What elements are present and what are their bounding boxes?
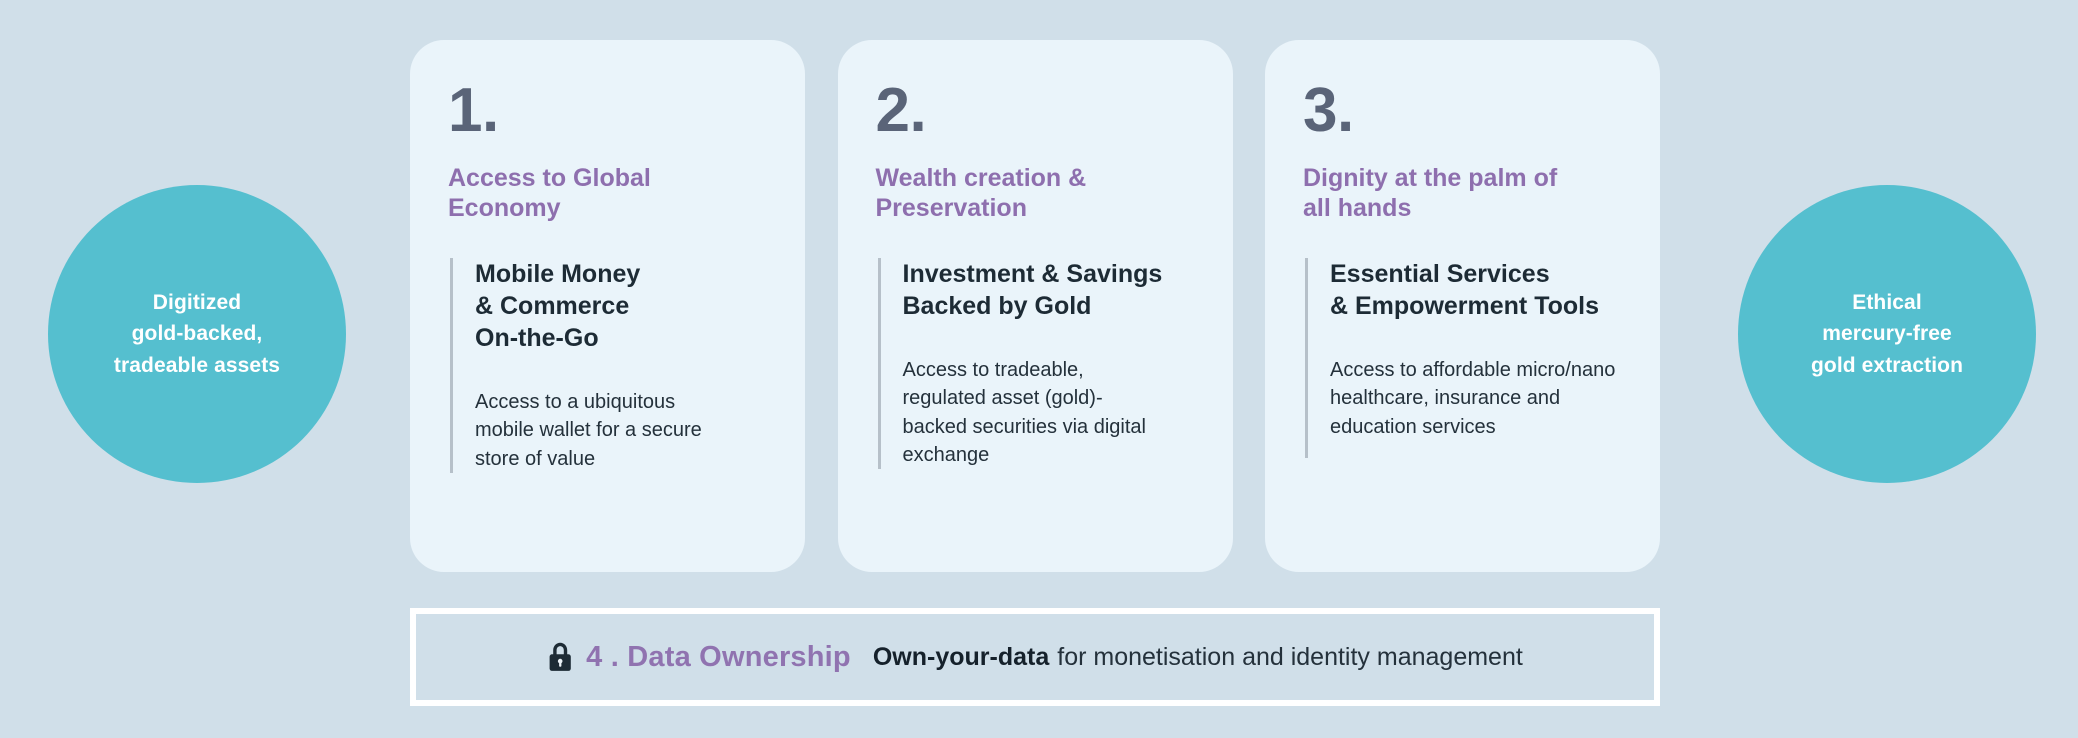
- card-body: Investment & Savings Backed by Gold Acce…: [878, 258, 1193, 470]
- own-your-data-rest-text: for monetisation and identity management: [1057, 643, 1523, 672]
- left-circle-badge: Digitized gold-backed, tradeable assets: [48, 185, 346, 483]
- card-description: Access to affordable micro/nano healthca…: [1330, 356, 1620, 441]
- data-ownership-bar[interactable]: 4 . Data Ownership Own-your-data for mon…: [410, 608, 1660, 706]
- card-number: 1.: [448, 82, 765, 141]
- card-heading: Wealth creation & Preservation: [876, 163, 1193, 224]
- card-number: 2.: [876, 82, 1193, 141]
- right-circle-label: Ethical mercury-free gold extraction: [1811, 287, 1963, 380]
- card-description: Access to a ubiquitous mobile wallet for…: [475, 388, 765, 473]
- card-body: Mobile Money & Commerce On-the-Go Access…: [450, 258, 765, 473]
- card-subtitle: Essential Services & Empowerment Tools: [1330, 258, 1620, 322]
- card-heading: Dignity at the palm of all hands: [1303, 163, 1620, 224]
- card-dignity-at-the-palm-of-all-hands[interactable]: 3. Dignity at the palm of all hands Esse…: [1265, 40, 1660, 572]
- card-number: 3.: [1303, 82, 1620, 141]
- lock-icon: [547, 642, 573, 672]
- card-subtitle: Investment & Savings Backed by Gold: [903, 258, 1193, 322]
- card-row: 1. Access to Global Economy Mobile Money…: [410, 40, 1660, 572]
- data-ownership-bar-content: 4 . Data Ownership Own-your-data for mon…: [547, 641, 1523, 674]
- infographic-stage: Digitized gold-backed, tradeable assets …: [0, 0, 2078, 738]
- left-circle-label: Digitized gold-backed, tradeable assets: [114, 287, 280, 380]
- own-your-data-strong-text: Own-your-data: [873, 643, 1049, 672]
- card-access-to-global-economy[interactable]: 1. Access to Global Economy Mobile Money…: [410, 40, 805, 572]
- card-body: Essential Services & Empowerment Tools A…: [1305, 258, 1620, 458]
- data-ownership-number-label: 4 . Data Ownership: [586, 641, 851, 674]
- card-heading: Access to Global Economy: [448, 163, 765, 224]
- card-wealth-creation-preservation[interactable]: 2. Wealth creation & Preservation Invest…: [838, 40, 1233, 572]
- card-description: Access to tradeable, regulated asset (go…: [903, 356, 1193, 470]
- card-subtitle: Mobile Money & Commerce On-the-Go: [475, 258, 765, 354]
- right-circle-badge: Ethical mercury-free gold extraction: [1738, 185, 2036, 483]
